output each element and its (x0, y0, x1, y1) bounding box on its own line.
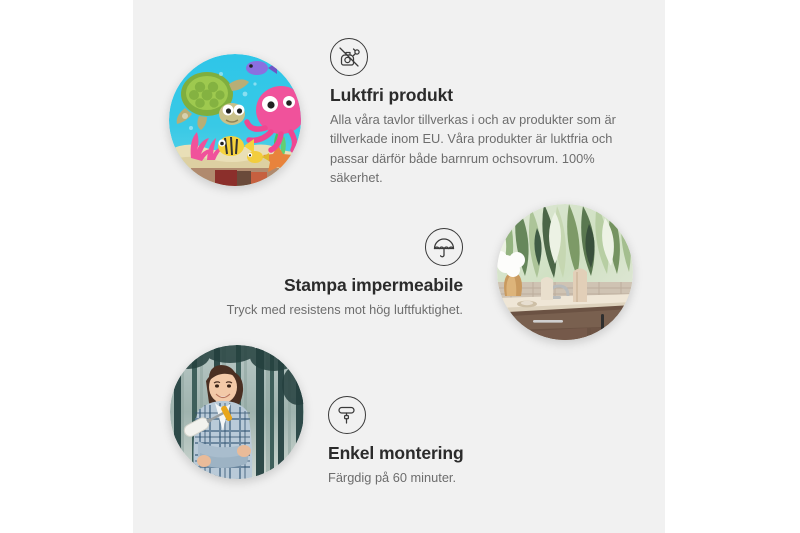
paint-roller-icon (328, 396, 366, 434)
feature-description: Tryck med resistens mot hög luftfuktighe… (205, 300, 463, 319)
photo-bathroom (497, 204, 633, 340)
feature-title: Luktfri produkt (330, 85, 630, 107)
photo-installer (170, 345, 304, 479)
feature-title: Stampa impermeabile (205, 275, 463, 297)
feature-easy-mounting: Enkel montering Färgdig på 60 minuter. (328, 396, 598, 487)
umbrella-icon (425, 228, 463, 266)
feature-description: Färgdig på 60 minuter. (328, 468, 598, 487)
feature-title: Enkel montering (328, 443, 598, 465)
feature-description: Alla våra tavlor tillverkas i och av pro… (330, 110, 630, 188)
product-feature-banner: Luktfri produkt Alla våra tavlor tillver… (0, 0, 800, 533)
no-fragrance-icon (330, 38, 368, 76)
photo-underwater (169, 54, 301, 186)
feature-waterproof-print: Stampa impermeabile Tryck med resistens … (205, 228, 463, 319)
feature-odour-free: Luktfri produkt Alla våra tavlor tillver… (330, 38, 630, 188)
